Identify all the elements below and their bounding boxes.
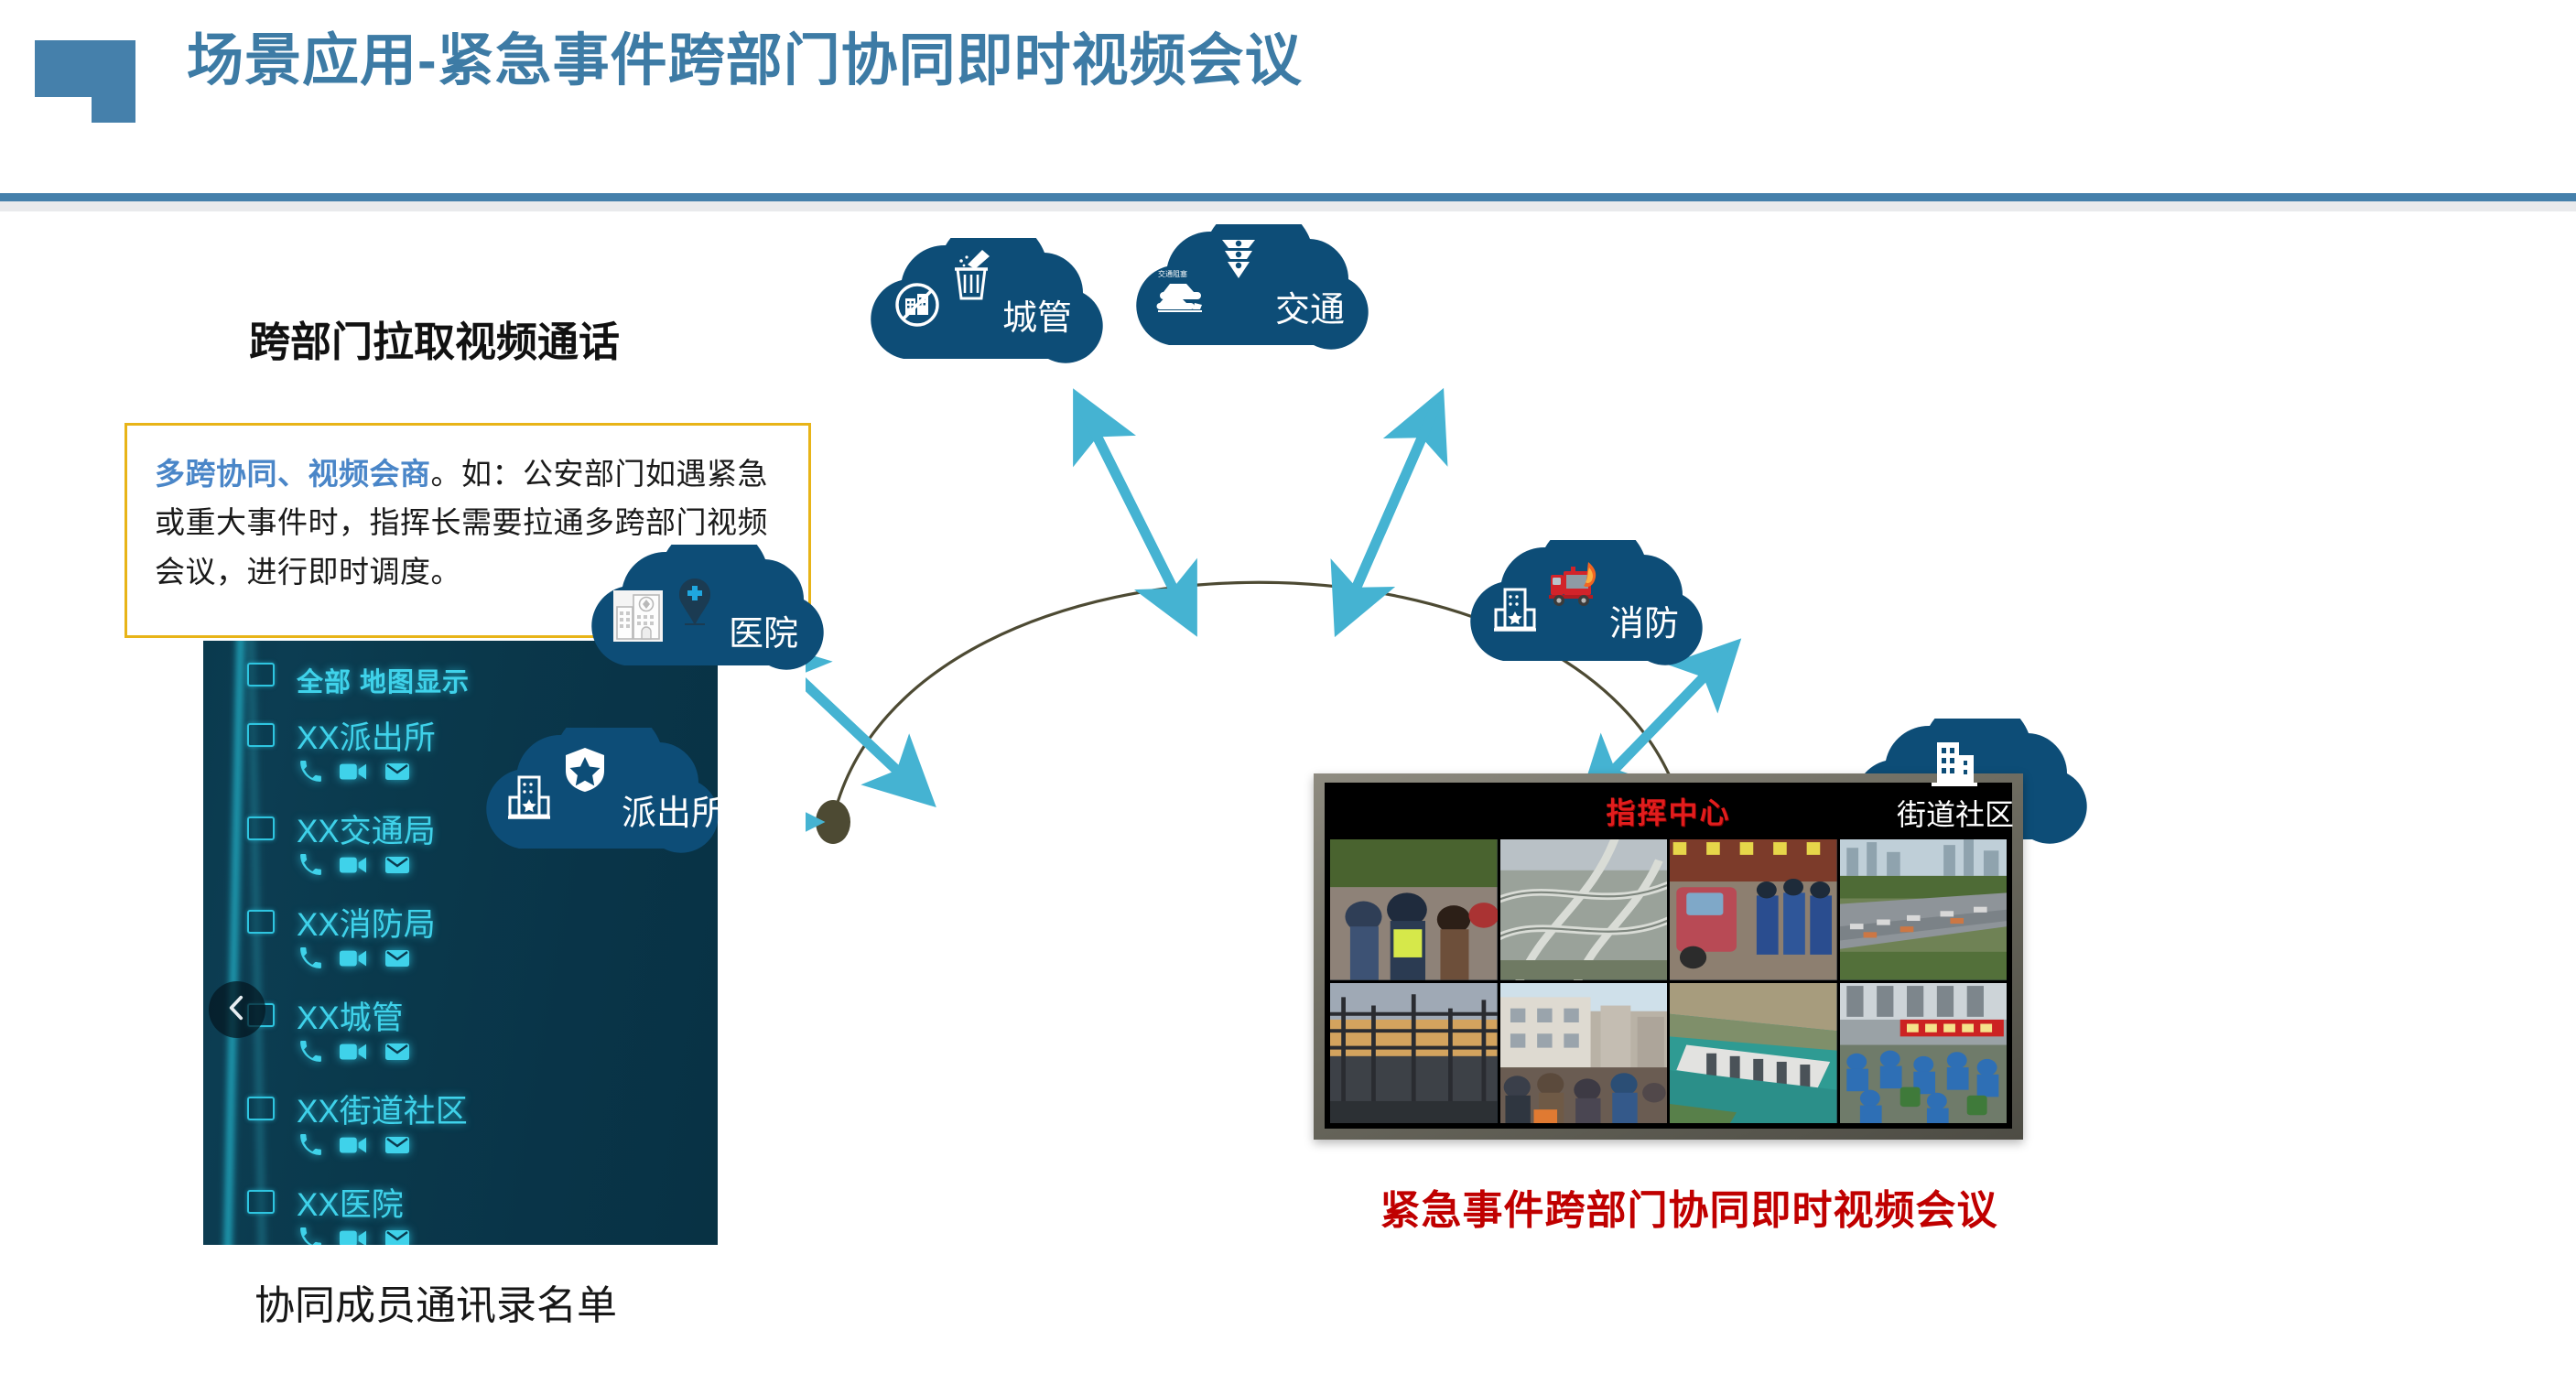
contacts-select-all-label: 全部 地图显示: [297, 661, 470, 699]
video-feed-grid: [1330, 839, 2007, 1123]
video-wall-screen: 指挥中心: [1325, 783, 2012, 1129]
node-fire-department[interactable]: 消防: [1456, 540, 1730, 668]
message-icon[interactable]: [384, 1042, 410, 1062]
svg-text:交通阻塞: 交通阻塞: [1158, 269, 1187, 278]
contact-name: XX街道社区: [297, 1086, 468, 1132]
contact-actions[interactable]: [298, 1227, 410, 1245]
video-feed-cell[interactable]: [1670, 983, 1837, 1124]
header-decoration-mark: [35, 40, 135, 123]
video-feed-cell[interactable]: [1840, 983, 2008, 1124]
node-label: 派出所: [622, 784, 726, 835]
contact-checkbox[interactable]: [247, 723, 275, 747]
checkbox-select-all[interactable]: [247, 663, 275, 687]
phone-icon[interactable]: [298, 1133, 322, 1157]
contact-row[interactable]: XX街道社区: [203, 1086, 718, 1173]
message-icon[interactable]: [384, 948, 410, 968]
node-label: 街道社区: [1897, 792, 2014, 834]
header-divider-shadow: [0, 201, 2576, 211]
contact-actions[interactable]: [298, 1133, 410, 1157]
contact-name: XX消防局: [297, 899, 436, 946]
contact-name: XX派出所: [297, 712, 436, 759]
contacts-caption: 协同成员通讯录名单: [254, 1272, 617, 1331]
video-camera-icon[interactable]: [340, 1042, 367, 1062]
node-label: 消防: [1609, 595, 1679, 645]
phone-icon[interactable]: [298, 760, 322, 784]
phone-icon[interactable]: [298, 1227, 322, 1245]
contact-checkbox[interactable]: [247, 910, 275, 934]
video-camera-icon[interactable]: [340, 762, 367, 782]
contacts-select-all-row[interactable]: 全部 地图显示: [203, 655, 718, 701]
contact-row[interactable]: XX医院: [203, 1179, 718, 1245]
contact-name: XX交通局: [297, 806, 436, 852]
contact-name: XX城管: [297, 992, 404, 1039]
header-mark-block-lower: [92, 81, 135, 123]
video-camera-icon[interactable]: [340, 1228, 367, 1245]
node-label: 交通: [1275, 281, 1345, 331]
panel-collapse-button[interactable]: [209, 981, 265, 1038]
contact-name: XX医院: [297, 1179, 404, 1226]
contact-actions[interactable]: [298, 1040, 410, 1064]
node-label: 城管: [1002, 289, 1072, 340]
chevron-left-icon: [222, 992, 253, 1028]
slide-root: 场景应用-紧急事件跨部门协同即时视频会议 跨部门拉取视频通话 多跨协同、视频会商…: [0, 0, 2576, 1384]
header-divider-line: [0, 193, 2576, 201]
arrow-traffic-down: [1341, 403, 1437, 622]
arrow-chengguan-down: [1080, 403, 1190, 622]
video-feed-cell[interactable]: [1330, 983, 1498, 1124]
contact-row[interactable]: XX消防局: [203, 899, 718, 987]
node-city-management[interactable]: 城管: [856, 238, 1131, 366]
video-feed-cell[interactable]: [1500, 983, 1668, 1124]
video-feed-cell[interactable]: [1500, 839, 1668, 980]
message-icon[interactable]: [384, 1135, 410, 1155]
video-feed-cell[interactable]: [1670, 839, 1837, 980]
contact-checkbox[interactable]: [247, 816, 275, 840]
section-title: 跨部门拉取视频通话: [249, 308, 620, 368]
contact-checkbox[interactable]: [247, 1190, 275, 1214]
node-traffic[interactable]: 交通阻塞 交通: [1121, 224, 1396, 352]
contact-actions[interactable]: [298, 760, 410, 784]
contact-row[interactable]: XX城管: [203, 992, 718, 1080]
page-title: 场景应用-紧急事件跨部门协同即时视频会议: [187, 26, 1303, 97]
video-camera-icon[interactable]: [340, 855, 367, 875]
message-icon[interactable]: [384, 762, 410, 782]
phone-icon[interactable]: [298, 853, 322, 877]
contacts-panel-inner: 全部 地图显示 XX派出所 XX交通局: [203, 641, 718, 1245]
contacts-panel: 全部 地图显示 XX派出所 XX交通局: [203, 641, 718, 1245]
video-camera-icon[interactable]: [340, 1135, 367, 1155]
phone-icon[interactable]: [298, 1040, 322, 1064]
diagram-caption: 紧急事件跨部门协同即时视频会议: [1277, 1177, 2101, 1236]
note-emphasis-text: 多跨协同、视频会商: [155, 457, 431, 491]
video-feed-cell[interactable]: [1330, 839, 1498, 980]
message-icon[interactable]: [384, 1228, 410, 1245]
node-label: 医院: [729, 605, 798, 655]
phone-icon[interactable]: [298, 946, 322, 970]
contact-actions[interactable]: [298, 853, 410, 877]
message-icon[interactable]: [384, 855, 410, 875]
contact-checkbox[interactable]: [247, 1097, 275, 1120]
contact-actions[interactable]: [298, 946, 410, 970]
video-feed-cell[interactable]: [1840, 839, 2008, 980]
arc-endpoint-left: [816, 800, 850, 844]
video-camera-icon[interactable]: [340, 948, 367, 968]
